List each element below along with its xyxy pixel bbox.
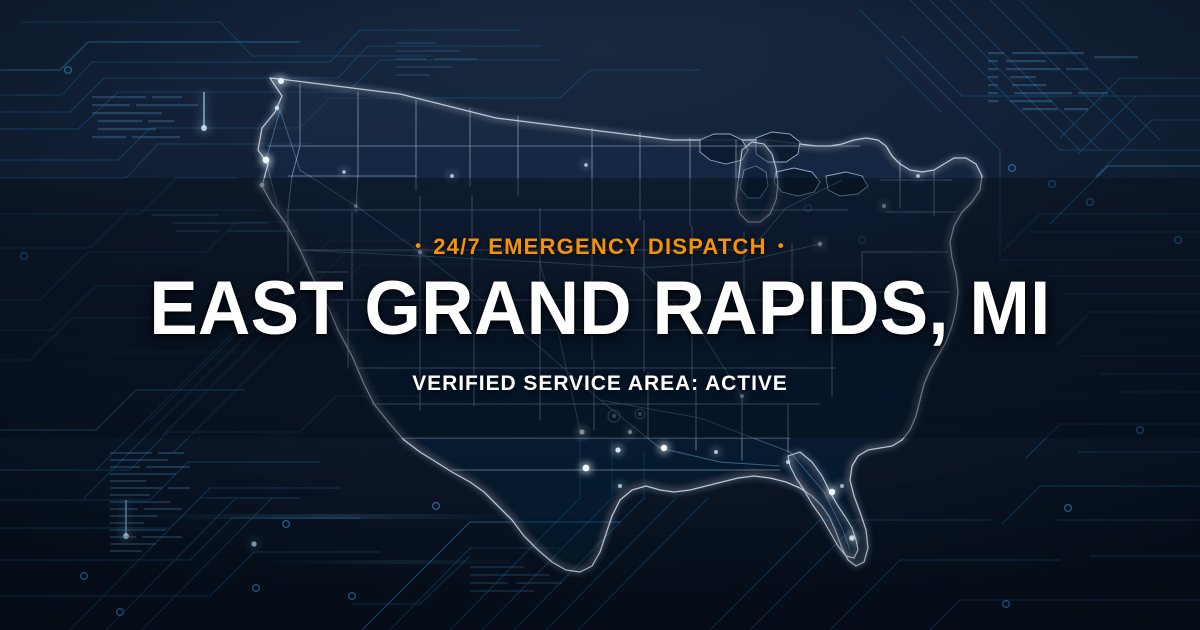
hero-content: • 24/7 EMERGENCY DISPATCH • EAST GRAND R… [0,0,1200,630]
bullet-left-icon: • [415,237,422,254]
page-title: EAST GRAND RAPIDS, MI [149,272,1050,346]
bullet-right-icon: • [778,237,785,254]
hero-banner: • 24/7 EMERGENCY DISPATCH • EAST GRAND R… [0,0,1200,630]
eyebrow-label: • 24/7 EMERGENCY DISPATCH • [415,234,785,260]
status-badge: VERIFIED SERVICE AREA: ACTIVE [412,372,788,396]
eyebrow-text: 24/7 EMERGENCY DISPATCH [433,234,766,260]
